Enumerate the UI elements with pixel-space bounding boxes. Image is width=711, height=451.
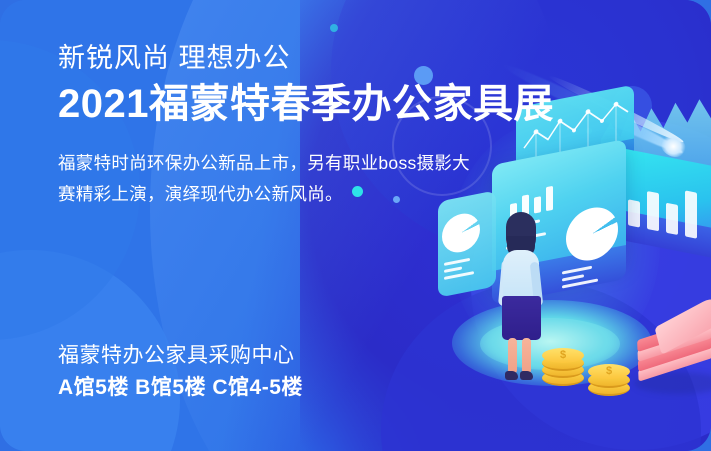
promo-banner: $ $ 新锐风尚 理想办公 2021福蒙特春季办公家具展 福蒙特时尚环保办公新品… [0, 0, 711, 451]
figure-shoe-right [520, 371, 533, 380]
figure-leg-right [522, 338, 531, 374]
copy-block: 新锐风尚 理想办公 2021福蒙特春季办公家具展 福蒙特时尚环保办公新品上市，另… [58, 44, 488, 209]
coin-stack-left-icon: $ [542, 348, 584, 388]
body-paragraph: 福蒙特时尚环保办公新品上市，另有职业boss摄影大赛精彩上演，演绎现代办公新风尚… [58, 148, 470, 208]
page-title: 2021福蒙特春季办公家具展 [58, 82, 488, 127]
coin-symbol-left: $ [542, 348, 584, 363]
figure-skirt [502, 296, 541, 340]
footer-block: 福蒙特办公家具采购中心 A馆5楼 B馆5楼 C馆4-5楼 [58, 342, 303, 403]
eyebrow-text: 新锐风尚 理想办公 [58, 44, 488, 74]
figure-leg-left [508, 338, 517, 374]
coin-symbol-right: $ [588, 364, 630, 379]
figure-shoe-left [505, 371, 518, 380]
footer-venue-name: 福蒙特办公家具采购中心 [58, 342, 303, 369]
footer-hall-locations: A馆5楼 B馆5楼 C馆4-5楼 [58, 374, 303, 402]
decor-dot-cyan-top [330, 24, 338, 32]
businesswoman-figure [490, 212, 552, 360]
coin-stack-right-icon: $ [588, 364, 630, 398]
